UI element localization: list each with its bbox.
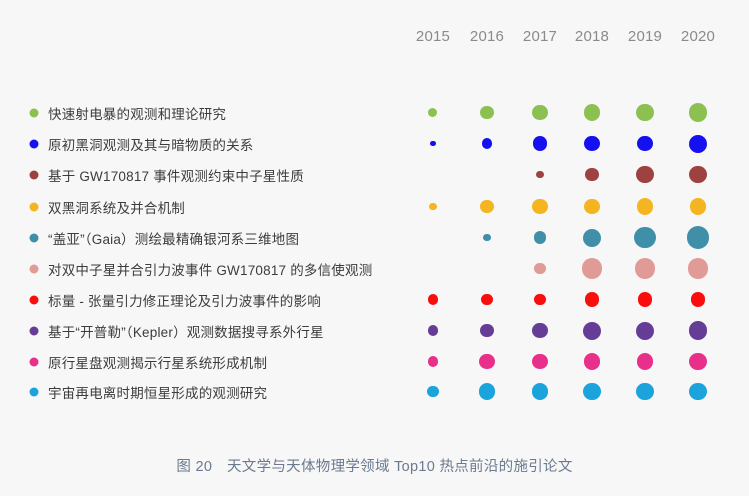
bubble-marker xyxy=(691,292,706,307)
legend-dot-icon xyxy=(30,170,39,179)
bubble-marker xyxy=(532,105,548,121)
legend-dot-icon xyxy=(30,139,39,148)
chart-row: 宇宙再电离时期恒星形成的观测研究 xyxy=(0,376,749,407)
bubble-marker xyxy=(689,383,706,400)
bubble-marker xyxy=(689,166,706,183)
bubble-marker xyxy=(637,198,653,214)
bubble-marker xyxy=(481,294,493,306)
bubble-marker xyxy=(534,231,547,244)
bubble-marker xyxy=(483,234,490,241)
bubble-marker xyxy=(637,136,653,152)
row-label: 宇宙再电离时期恒星形成的观测研究 xyxy=(48,382,267,402)
bubble-marker xyxy=(637,353,653,369)
chart-row: 原初黑洞观测及其与暗物质的关系 xyxy=(0,128,749,159)
chart-row: 对双中子星并合引力波事件 GW170817 的多信使观测 xyxy=(0,253,749,284)
bubble-marker xyxy=(532,323,548,339)
legend-dot-icon xyxy=(30,264,39,273)
bubble-marker xyxy=(689,353,706,370)
bubble-marker xyxy=(690,198,706,214)
chart-row: “盖亚”（Gaia）测绘最精确银河系三维地图 xyxy=(0,222,749,253)
bubble-marker xyxy=(583,229,601,247)
row-label: 原行星盘观测揭示行星系统形成机制 xyxy=(48,352,267,372)
chart-row: 标量 - 张量引力修正理论及引力波事件的影响 xyxy=(0,284,749,315)
bubble-marker xyxy=(687,226,710,249)
year-axis: 201520162017201820192020 xyxy=(0,28,749,52)
bubble-marker xyxy=(480,200,494,214)
bubble-chart: 201520162017201820192020 快速射电暴的观测和理论研究原初… xyxy=(0,0,749,496)
bubble-marker xyxy=(689,321,708,340)
legend-dot-icon xyxy=(30,295,39,304)
chart-row: 快速射电暴的观测和理论研究 xyxy=(0,97,749,128)
bubble-marker xyxy=(636,383,653,400)
row-label: 双黑洞系统及并合机制 xyxy=(48,197,185,217)
bubble-marker xyxy=(532,199,548,215)
bubble-marker xyxy=(429,203,436,210)
bubble-marker xyxy=(534,294,546,306)
bubble-marker xyxy=(583,383,600,400)
year-label-2019: 2019 xyxy=(628,28,662,45)
bubble-marker xyxy=(584,104,600,120)
bubble-marker xyxy=(634,227,655,248)
bubble-marker xyxy=(428,356,438,366)
legend-dot-icon xyxy=(30,326,39,335)
bubble-marker xyxy=(427,386,439,398)
legend-dot-icon xyxy=(30,202,39,211)
chart-row: 原行星盘观测揭示行星系统形成机制 xyxy=(0,346,749,377)
bubble-marker xyxy=(536,171,543,178)
chart-row: 双黑洞系统及并合机制 xyxy=(0,191,749,222)
row-label: “盖亚”（Gaia）测绘最精确银河系三维地图 xyxy=(48,228,299,248)
bubble-marker xyxy=(428,294,438,304)
row-label: 标量 - 张量引力修正理论及引力波事件的影响 xyxy=(48,290,321,310)
bubble-marker xyxy=(638,292,653,307)
bubble-marker xyxy=(532,354,548,370)
row-label: 快速射电暴的观测和理论研究 xyxy=(48,103,226,123)
bubble-marker xyxy=(635,258,656,279)
row-label: 基于“开普勒”（Kepler）观测数据搜寻系外行星 xyxy=(48,321,324,341)
bubble-marker xyxy=(636,104,653,121)
bubble-marker xyxy=(688,258,709,279)
chart-row: 基于“开普勒”（Kepler）观测数据搜寻系外行星 xyxy=(0,315,749,346)
legend-dot-icon xyxy=(30,387,39,396)
bubble-marker xyxy=(689,103,708,122)
year-label-2020: 2020 xyxy=(681,28,715,45)
row-label: 对双中子星并合引力波事件 GW170817 的多信使观测 xyxy=(48,259,372,279)
bubble-marker xyxy=(584,199,600,215)
figure-caption: 图 20 天文学与天体物理学领域 Top10 热点前沿的施引论文 xyxy=(0,455,749,476)
bubble-marker xyxy=(479,354,495,370)
chart-row: 基于 GW170817 事件观测约束中子星性质 xyxy=(0,159,749,190)
year-label-2016: 2016 xyxy=(470,28,504,45)
bubble-marker xyxy=(480,106,494,120)
bubble-marker xyxy=(585,168,599,182)
bubble-marker xyxy=(689,135,707,153)
legend-dot-icon xyxy=(30,108,39,117)
bubble-marker xyxy=(583,322,601,340)
bubble-marker xyxy=(428,108,437,117)
year-label-2018: 2018 xyxy=(575,28,609,45)
row-label: 基于 GW170817 事件观测约束中子星性质 xyxy=(48,165,304,185)
bubble-marker xyxy=(479,383,495,399)
bubble-marker xyxy=(584,353,600,369)
bubble-marker xyxy=(585,292,600,307)
bubble-marker xyxy=(532,383,548,399)
row-label: 原初黑洞观测及其与暗物质的关系 xyxy=(48,134,254,154)
legend-dot-icon xyxy=(30,357,39,366)
bubble-marker xyxy=(636,322,654,340)
bubble-marker xyxy=(636,166,653,183)
bubble-marker xyxy=(482,138,492,148)
bubble-marker xyxy=(582,258,602,278)
year-label-2017: 2017 xyxy=(523,28,557,45)
bubble-marker xyxy=(430,141,435,146)
bubble-marker xyxy=(534,263,546,275)
bubble-marker xyxy=(584,136,600,152)
bubble-marker xyxy=(533,136,548,151)
bubble-marker xyxy=(480,324,494,338)
legend-dot-icon xyxy=(30,233,39,242)
bubble-marker xyxy=(428,325,438,335)
year-label-2015: 2015 xyxy=(416,28,450,45)
